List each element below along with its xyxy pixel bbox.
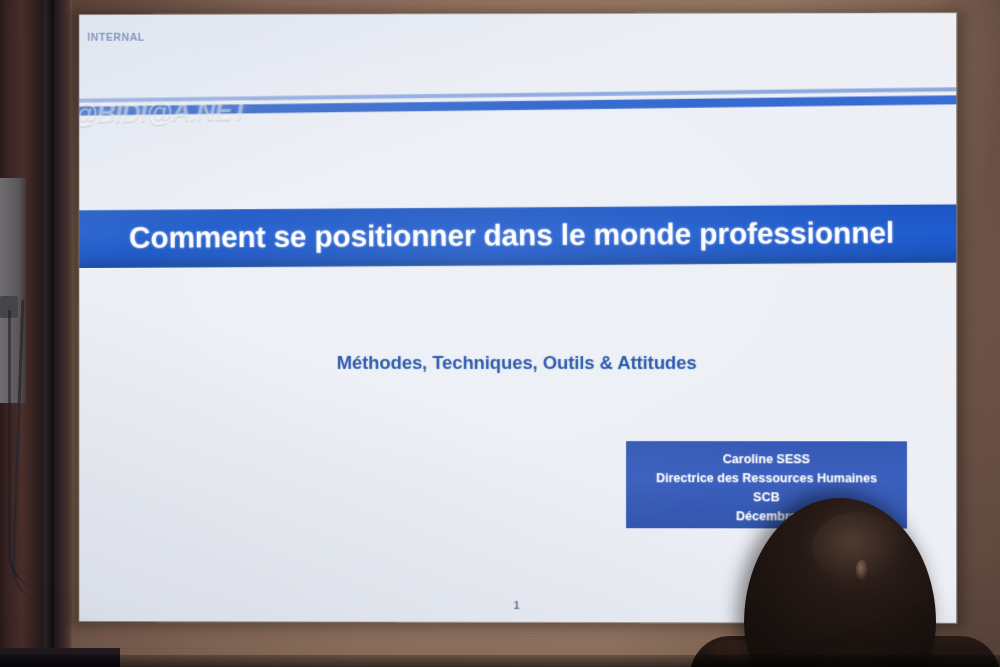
slide-subtitle: Méthodes, Techniques, Outils & Attitudes [79, 352, 956, 374]
author-name: Caroline SESS [723, 450, 810, 469]
author-title: Directrice des Ressources Humaines [656, 469, 877, 488]
classification-label: INTERNAL [87, 32, 145, 44]
person-ear [856, 560, 868, 580]
slide-title-band: Comment se positionner dans le monde pro… [79, 204, 956, 268]
author-company: SCB [753, 488, 779, 507]
photo-bottom-shadow [0, 655, 1000, 667]
conference-photo: INTERNAL Comment se positionner dans le … [0, 0, 1000, 667]
hanging-cable-secondary [8, 310, 45, 590]
slide-title: Comment se positionner dans le monde pro… [129, 217, 894, 256]
